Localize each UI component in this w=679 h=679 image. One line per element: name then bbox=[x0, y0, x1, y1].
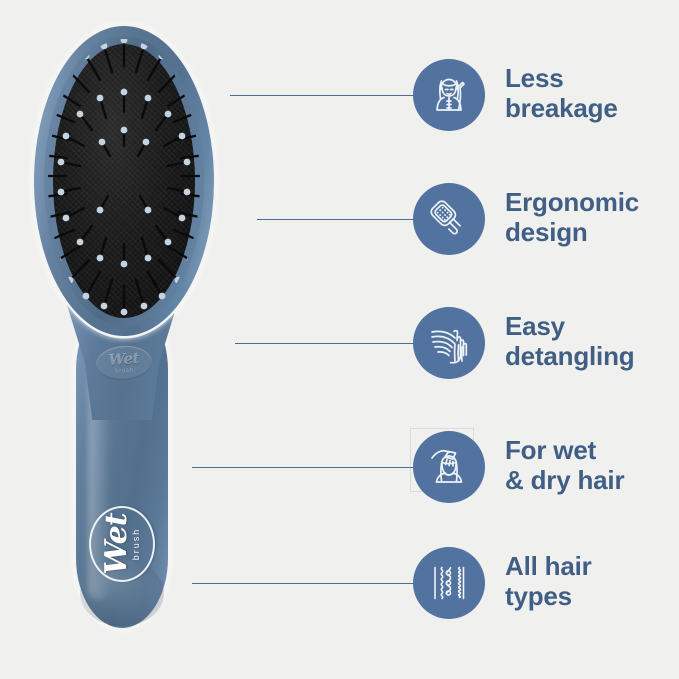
shower-head-over-head-icon bbox=[425, 443, 473, 491]
feature-label-easy-detangling: Easy detangling bbox=[505, 311, 634, 371]
feature-label-all-hair-types: All hair types bbox=[505, 551, 592, 611]
feature-icon-easy-detangling bbox=[413, 307, 485, 379]
handle-logo-badge: Wet brush bbox=[89, 506, 155, 582]
product-infographic: Wet brush Wet brush bbox=[0, 0, 679, 679]
feature-label-for-wet-and-dry-hair: For wet & dry hair bbox=[505, 435, 624, 495]
connector-line-less-breakage bbox=[230, 95, 415, 96]
feature-label-ergonomic-design: Ergonomic design bbox=[505, 187, 639, 247]
product-image-hair-brush: Wet brush Wet brush bbox=[0, 0, 260, 679]
connector-line-all-hair-types bbox=[192, 583, 415, 584]
brush-handle-logo: Wet brush bbox=[84, 492, 160, 596]
feature-icon-ergonomic-design bbox=[413, 183, 485, 255]
feature-icon-all-hair-types bbox=[413, 547, 485, 619]
hair-texture-types-icon bbox=[425, 559, 473, 607]
neck-logo-secondary-text: brush bbox=[115, 367, 134, 374]
connector-line-ergonomic-design bbox=[257, 219, 415, 220]
hand-through-hair-icon bbox=[425, 319, 473, 367]
feature-icon-less-breakage bbox=[413, 59, 485, 131]
handle-logo-secondary-text: brush bbox=[132, 528, 141, 561]
connector-line-for-wet-and-dry-hair bbox=[192, 467, 415, 468]
paddle-brush-icon bbox=[425, 195, 473, 243]
feature-icon-for-wet-and-dry-hair bbox=[413, 431, 485, 503]
connector-line-easy-detangling bbox=[235, 343, 415, 344]
brush-bristles bbox=[34, 26, 214, 336]
woman-brushing-hair-icon bbox=[426, 72, 472, 118]
handle-logo-primary-text: Wet bbox=[103, 513, 132, 574]
neck-logo-primary-text: Wet bbox=[108, 351, 140, 368]
feature-label-less-breakage: Less breakage bbox=[505, 63, 618, 123]
